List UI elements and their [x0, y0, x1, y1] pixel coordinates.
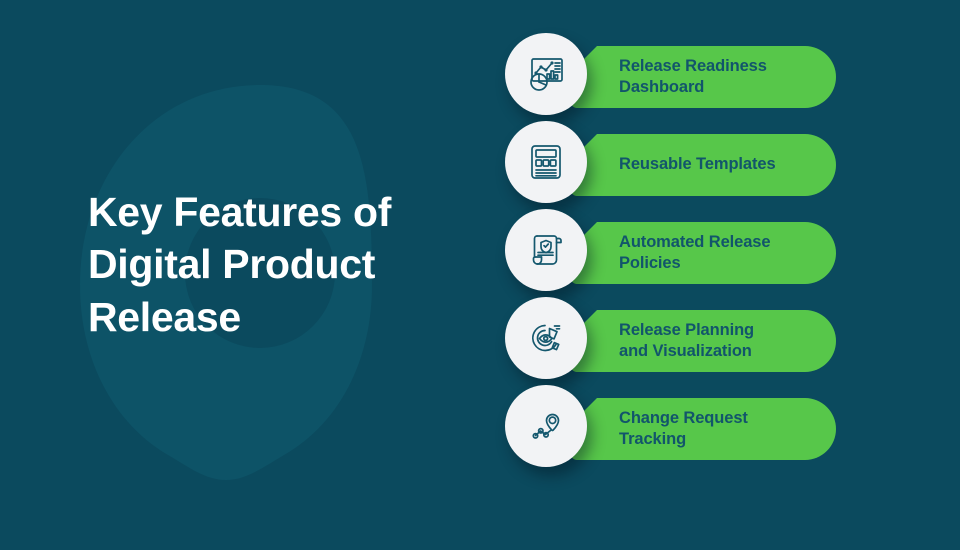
dashboard-analytics-icon — [523, 51, 569, 97]
feature-icon-badge[interactable] — [505, 385, 587, 467]
feature-label-line-1: Change Request — [619, 408, 748, 429]
donut-chart-eye-icon — [523, 315, 569, 361]
feature-bar[interactable]: Release Planning and Visualization — [571, 310, 836, 372]
feature-bar[interactable]: Release Readiness Dashboard — [571, 46, 836, 108]
route-map-pin-icon — [523, 403, 569, 449]
feature-icon-badge[interactable] — [505, 121, 587, 203]
feature-icon-badge[interactable] — [505, 33, 587, 115]
policy-scroll-shield-icon — [523, 227, 569, 273]
feature-label-line-1: Release Readiness — [619, 56, 767, 77]
feature-icon-badge[interactable] — [505, 297, 587, 379]
feature-label-line-1: Reusable Templates — [619, 154, 776, 175]
feature-icon-badge[interactable] — [505, 209, 587, 291]
feature-label-line-1: Automated Release — [619, 232, 770, 253]
feature-label-line-1: Release Planning — [619, 320, 754, 341]
feature-list: Release Readiness Dashboard — [0, 0, 960, 550]
feature-label-line-2: Dashboard — [619, 77, 767, 98]
feature-label-line-2: and Visualization — [619, 341, 754, 362]
template-layout-icon — [523, 139, 569, 185]
feature-bar[interactable]: Reusable Templates — [571, 134, 836, 196]
feature-bar[interactable]: Automated Release Policies — [571, 222, 836, 284]
infographic-canvas: Key Features of Digital Product Release … — [0, 0, 960, 550]
feature-bar[interactable]: Change Request Tracking — [571, 398, 836, 460]
feature-label-line-2: Policies — [619, 253, 770, 274]
feature-label-line-2: Tracking — [619, 429, 748, 450]
